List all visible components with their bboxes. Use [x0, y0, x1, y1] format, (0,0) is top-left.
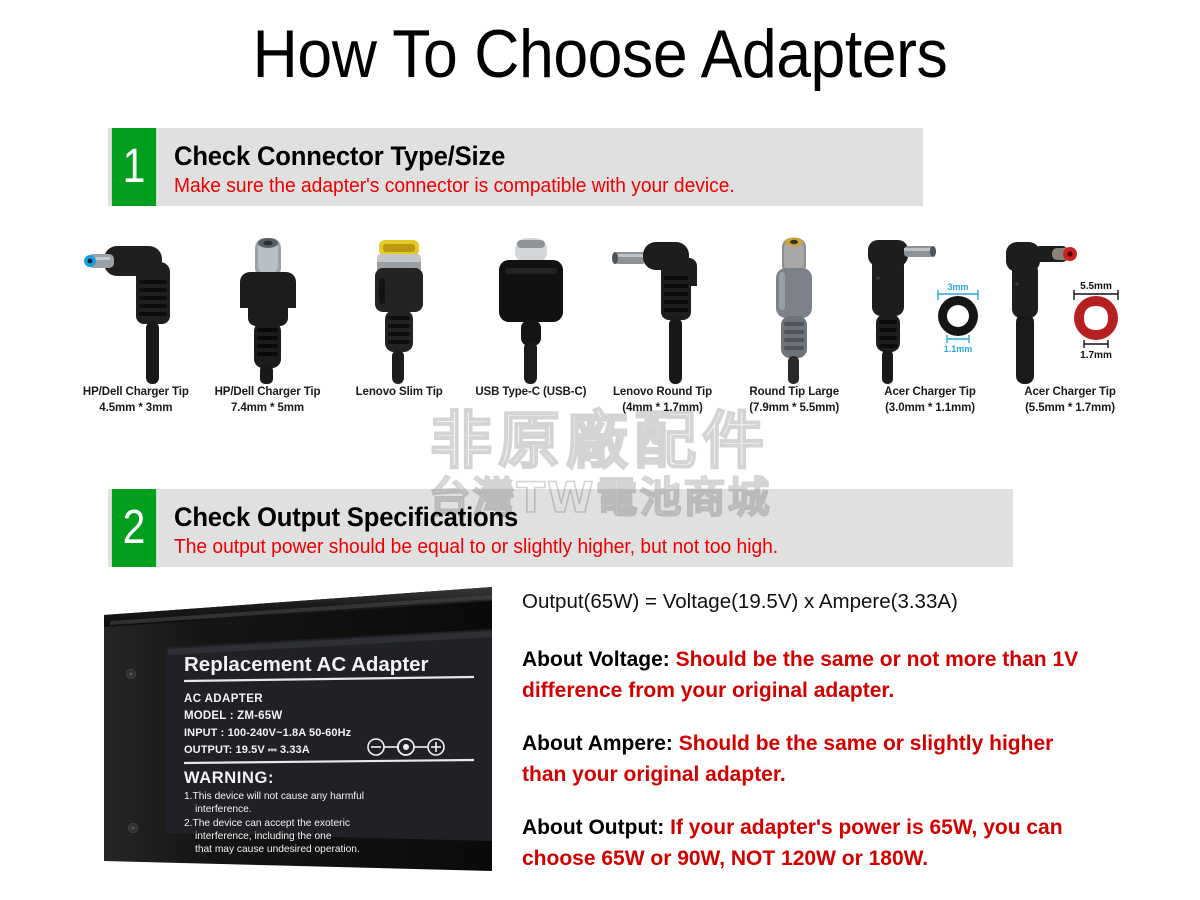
- connector-name: Lenovo Slim Tip: [356, 384, 443, 400]
- connector-gallery: HP/Dell Charger Tip 4.5mm * 3mm: [70, 232, 1140, 432]
- connector-label-acer-55: Acer Charger Tip (5.5mm * 1.7mm): [1024, 384, 1116, 416]
- connector-name: USB Type-C (USB-C): [475, 384, 586, 400]
- connector-item-acer-55: 5.5mm 1.7mm Acer Charger Tip (5.5mm * 1.…: [1000, 232, 1140, 432]
- connector-size: (7.9mm * 5.5mm): [749, 400, 839, 416]
- connector-size: (4mm * 1.7mm): [613, 400, 712, 416]
- step-1-text: Check Connector Type/Size Make sure the …: [160, 128, 923, 206]
- output-spec-text: Output(65W) = Voltage(19.5V) x Ampere(3.…: [522, 588, 1082, 896]
- spec-key-voltage: About Voltage:: [522, 648, 676, 671]
- connector-name: Acer Charger Tip: [884, 384, 976, 400]
- spec-item-voltage: About Voltage: Should be the same or not…: [522, 644, 1082, 706]
- connector-item-hp-dell-74: HP/Dell Charger Tip 7.4mm * 5mm: [202, 232, 334, 432]
- spec-item-output: About Output: If your adapter's power is…: [522, 812, 1082, 874]
- adapter-model: MODEL : ZM-65W: [184, 710, 282, 722]
- round-tip-large-icon: [728, 232, 860, 384]
- connector-item-hp-dell-45: HP/Dell Charger Tip 4.5mm * 3mm: [70, 232, 202, 432]
- step-2-subtitle: The output power should be equal to or s…: [174, 534, 979, 560]
- connector-name: HP/Dell Charger Tip: [83, 384, 189, 400]
- step-2-title: Check Output Specifications: [174, 501, 971, 534]
- connector-name: HP/Dell Charger Tip: [215, 384, 321, 400]
- output-equation: Output(65W) = Voltage(19.5V) x Ampere(3.…: [522, 588, 1082, 616]
- hp-dell-74-tip-icon: [202, 232, 334, 384]
- adapter-warning-line-1: 1.This device will not cause any harmful: [184, 791, 364, 802]
- step-1-title: Check Connector Type/Size: [174, 140, 886, 173]
- infographic-page: How To Choose Adapters 1 Check Connector…: [0, 0, 1200, 900]
- svg-text:5.5mm: 5.5mm: [1080, 281, 1112, 292]
- connector-label-lenovo-slim: Lenovo Slim Tip: [356, 384, 443, 400]
- connector-size: (3.0mm * 1.1mm): [884, 400, 976, 416]
- svg-text:1.1mm: 1.1mm: [944, 344, 973, 354]
- connector-item-round-large: Round Tip Large (7.9mm * 5.5mm): [728, 232, 860, 432]
- acer-55-callout: 5.5mm 1.7mm: [1074, 281, 1118, 361]
- connector-item-lenovo-round: Lenovo Round Tip (4mm * 1.7mm): [597, 232, 729, 432]
- step-2-header: 2 Check Output Specifications The output…: [108, 489, 1013, 567]
- step-2-text: Check Output Specifications The output p…: [160, 489, 1013, 567]
- spec-key-ampere: About Ampere:: [522, 732, 679, 755]
- acer-30-callout: 3mm 1.1mm: [938, 282, 978, 354]
- adapter-warning-line-2: interference.: [195, 804, 252, 815]
- step-1-badge: 1: [112, 128, 156, 206]
- adapter-warning-line-5: that may cause undesired operation.: [195, 844, 360, 855]
- usb-type-c-icon: [465, 232, 597, 384]
- connector-size: 7.4mm * 5mm: [215, 400, 321, 416]
- svg-text:1.7mm: 1.7mm: [1080, 350, 1112, 361]
- step-1-header: 1 Check Connector Type/Size Make sure th…: [108, 128, 923, 206]
- connector-item-lenovo-slim: Lenovo Slim Tip: [333, 232, 465, 432]
- acer-55-tip-icon: 5.5mm 1.7mm: [1000, 232, 1140, 384]
- acer-30-tip-icon: 3mm 1.1mm: [860, 232, 1000, 384]
- connector-label-hp-dell-45: HP/Dell Charger Tip 4.5mm * 3mm: [83, 384, 189, 416]
- page-title: How To Choose Adapters: [48, 12, 1152, 96]
- connector-name: Lenovo Round Tip: [613, 384, 712, 400]
- connector-label-hp-dell-74: HP/Dell Charger Tip 7.4mm * 5mm: [215, 384, 321, 416]
- lenovo-round-tip-icon: [597, 232, 729, 384]
- spec-item-ampere: About Ampere: Should be the same or slig…: [522, 728, 1082, 790]
- spec-key-output: About Output:: [522, 816, 670, 839]
- adapter-input: INPUT : 100-240V~1.8A 50-60Hz: [184, 727, 352, 739]
- connector-size: 4.5mm * 3mm: [83, 400, 189, 416]
- connector-label-acer-30: Acer Charger Tip (3.0mm * 1.1mm): [884, 384, 976, 416]
- connector-item-acer-30: 3mm 1.1mm Acer Charger Tip (3.0mm * 1.1m…: [860, 232, 1000, 432]
- adapter-output: OUTPUT: 19.5V ⎓ 3.33A: [184, 744, 310, 756]
- connector-item-usb-c: USB Type-C (USB-C): [465, 232, 597, 432]
- lenovo-slim-tip-icon: [333, 232, 465, 384]
- adapter-type: AC ADAPTER: [184, 693, 263, 705]
- svg-text:3mm: 3mm: [948, 282, 969, 292]
- hp-dell-blue-tip-icon: [70, 232, 202, 384]
- step-2-badge: 2: [112, 489, 156, 567]
- step-1-subtitle: Make sure the adapter's connector is com…: [174, 173, 893, 199]
- adapter-brand-line: Replacement AC Adapter: [184, 653, 429, 676]
- connector-name: Round Tip Large: [749, 384, 839, 400]
- adapter-warning-line-4: interference, including the one: [195, 831, 332, 842]
- adapter-warning-heading: WARNING:: [184, 769, 274, 787]
- connector-label-round-large: Round Tip Large (7.9mm * 5.5mm): [749, 384, 839, 416]
- adapter-warning-line-3: 2.The device can accept the exoteric: [184, 818, 350, 829]
- connector-size: (5.5mm * 1.7mm): [1024, 400, 1116, 416]
- connector-label-usb-c: USB Type-C (USB-C): [475, 384, 586, 400]
- adapter-brick-photo: Replacement AC Adapter AC ADAPTER MODEL …: [88, 575, 508, 890]
- connector-name: Acer Charger Tip: [1024, 384, 1116, 400]
- connector-label-lenovo-round: Lenovo Round Tip (4mm * 1.7mm): [613, 384, 712, 416]
